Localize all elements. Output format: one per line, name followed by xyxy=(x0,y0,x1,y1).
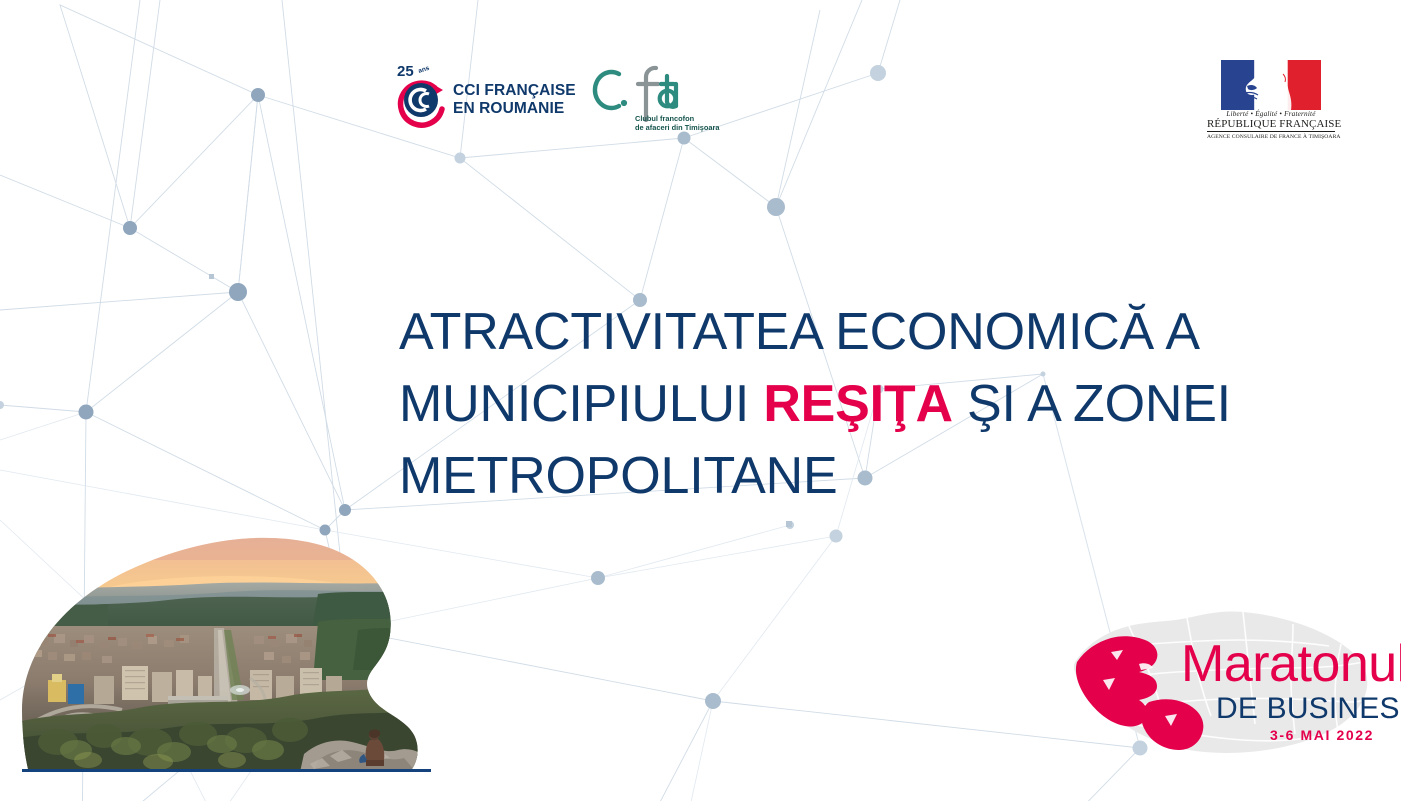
cfat-tagline-line1: Clubul francofon xyxy=(635,114,719,123)
cci-circle-mark-icon: 25 ans xyxy=(395,62,457,130)
resita-cityscape-photo xyxy=(18,530,428,772)
cci-line2: EN ROUMANIE xyxy=(453,100,576,118)
page-title: ATRACTIVITATEA ECONOMICĂ A MUNICIPIULUI … xyxy=(399,296,1279,512)
title-line-2-after: ŞI A ZONEI xyxy=(953,375,1231,433)
maratonul-de-business-logo: Maratonul DE BUSINESS 3-6 MAI 2022 xyxy=(1053,600,1388,768)
logo-row: 25 ans CCI FRANÇAISE EN ROUMANIE xyxy=(0,0,1401,160)
cfat-tagline: Clubul francofon de afaceri din Timişoar… xyxy=(635,114,719,132)
republique-francaise-logo: Liberté • Égalité • Fraternité RÉPUBLIQU… xyxy=(1207,60,1335,138)
cci-line1: CCI FRANÇAISE xyxy=(453,82,576,100)
cci-wordmark: CCI FRANÇAISE EN ROUMANIE xyxy=(453,82,576,117)
title-line-2-before: MUNICIPIULUI xyxy=(399,375,763,433)
cci-anniversary-number: 25 xyxy=(397,63,414,80)
cfat-tagline-line2: de afaceri din Timişoara xyxy=(635,123,719,132)
cci-anniversary-unit: ans xyxy=(417,65,430,75)
maratonul-wordmark: Maratonul xyxy=(1181,638,1401,690)
marianne-tricolor-icon xyxy=(1221,60,1321,110)
title-line-3: METROPOLITANE xyxy=(399,440,1279,512)
photo-bottom-rule xyxy=(22,769,431,772)
cfat-logo: Clubul francofon de afaceri din Timişoar… xyxy=(588,62,708,140)
title-line-2: MUNICIPIULUI REŞIŢA ŞI A ZONEI xyxy=(399,368,1279,440)
title-line-1: ATRACTIVITATEA ECONOMICĂ A xyxy=(399,296,1279,368)
rf-agency-line: AGENCE CONSULAIRE DE FRANCE À TIMIŞOARA xyxy=(1207,131,1335,140)
rf-title: RÉPUBLIQUE FRANÇAISE xyxy=(1207,118,1335,130)
maratonul-dates: 3-6 MAI 2022 xyxy=(1270,727,1374,743)
cfat-wordmark-icon xyxy=(588,62,686,122)
maratonul-subtitle: DE BUSINESS xyxy=(1216,693,1401,725)
rf-devise: Liberté • Égalité • Fraternité xyxy=(1207,110,1335,118)
title-accent-resita: REŞIŢA xyxy=(763,375,952,433)
cci-francaise-en-roumanie-logo: 25 ans CCI FRANÇAISE EN ROUMANIE xyxy=(395,62,560,132)
presentation-slide: 25 ans CCI FRANÇAISE EN ROUMANIE xyxy=(0,0,1401,801)
